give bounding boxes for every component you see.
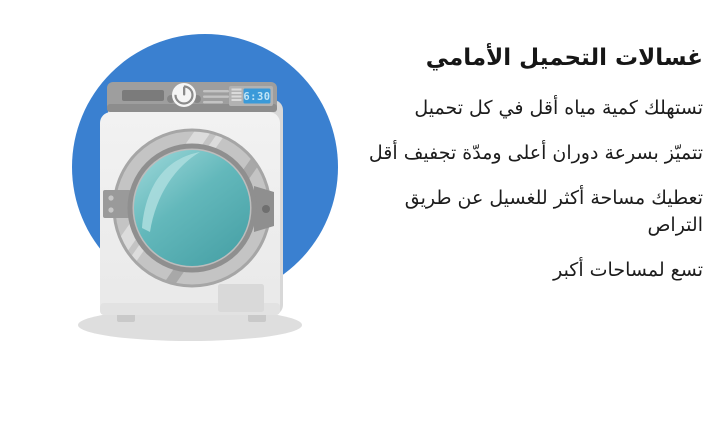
lcd-rib-2 bbox=[232, 92, 242, 94]
setting-line-2 bbox=[203, 96, 229, 98]
brand-badge bbox=[218, 284, 264, 312]
door-hinge bbox=[103, 190, 131, 218]
setting-line-3 bbox=[203, 101, 223, 103]
setting-line-1 bbox=[203, 90, 229, 92]
power-icon-bar bbox=[183, 87, 185, 96]
door-hinge-screw-top bbox=[108, 195, 113, 200]
lcd-time-display: 6:30 bbox=[243, 91, 270, 103]
lcd-rib-4 bbox=[232, 99, 242, 101]
door-latch-dot bbox=[262, 205, 270, 213]
feature-item: تتميّز بسرعة دوران أعلى ومدّة تجفيف أقل bbox=[359, 140, 703, 167]
feature-item: تسع لمساحات أكبر bbox=[359, 257, 703, 284]
feature-list: تستهلك كمية مياه أقل في كل تحميل تتميّز … bbox=[359, 95, 703, 284]
content-text-panel: غسالات التحميل الأمامي تستهلك كمية مياه … bbox=[359, 44, 703, 284]
door-hinge-screw-bottom bbox=[108, 207, 113, 212]
page-title: غسالات التحميل الأمامي bbox=[359, 44, 703, 73]
washing-machine-illustration: 6:30 bbox=[0, 0, 360, 441]
feature-item: تستهلك كمية مياه أقل في كل تحميل bbox=[359, 95, 703, 122]
lcd-rib-3 bbox=[232, 96, 242, 98]
washing-machine-svg: 6:30 bbox=[0, 0, 360, 441]
feature-item: تعطيك مساحة أكثر للغسيل عن طريق التراص bbox=[359, 185, 703, 239]
detergent-slot-icon bbox=[122, 90, 164, 101]
page-root: 6:30 bbox=[0, 0, 719, 441]
lcd-rib-1 bbox=[232, 89, 242, 91]
